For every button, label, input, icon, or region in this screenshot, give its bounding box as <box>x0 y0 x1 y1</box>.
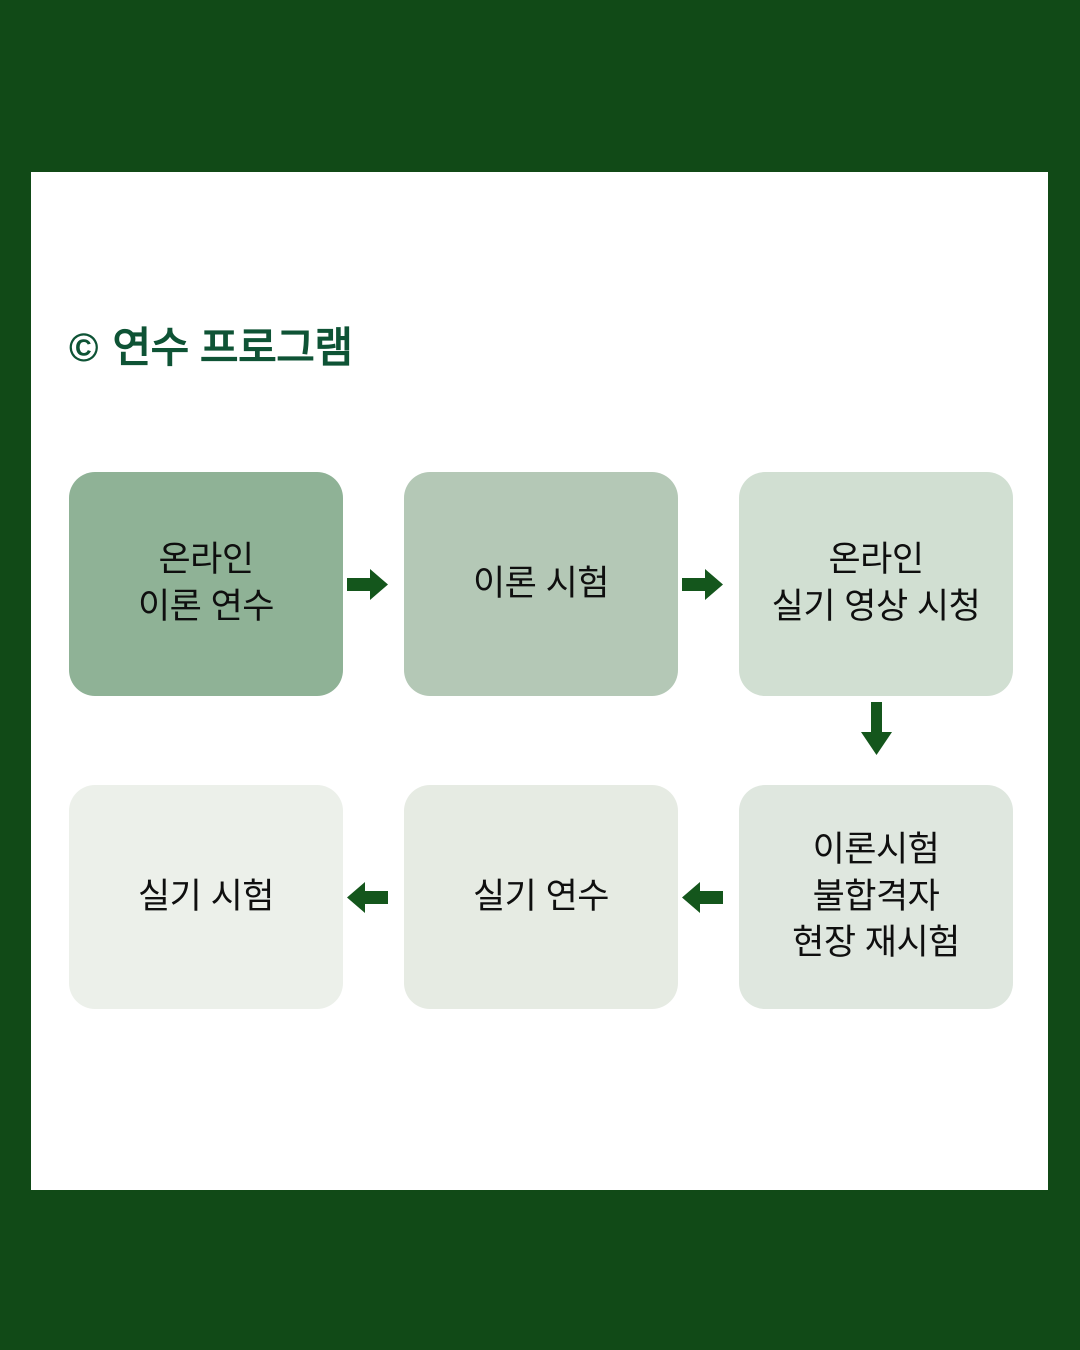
flow-node-online-practical-video[interactable]: 온라인 실기 영상 시청 <box>739 472 1013 696</box>
arrow-down-icon <box>860 702 893 756</box>
flow-node-theory-exam-retake[interactable]: 이론시험 불합격자 현장 재시험 <box>739 785 1013 1009</box>
content-card: © 연수 프로그램 온라인 이론 연수 이론 시험 온라인 실기 영상 시청 이… <box>31 172 1048 1190</box>
flow-node-theory-exam[interactable]: 이론 시험 <box>404 472 678 696</box>
arrow-right-icon <box>347 568 389 601</box>
arrow-right-icon <box>682 568 724 601</box>
arrow-left-icon <box>682 881 724 914</box>
flow-node-online-theory-training[interactable]: 온라인 이론 연수 <box>69 472 343 696</box>
arrow-left-icon <box>347 881 389 914</box>
flow-node-practical-training[interactable]: 실기 연수 <box>404 785 678 1009</box>
flow-node-practical-exam[interactable]: 실기 시험 <box>69 785 343 1009</box>
flowchart: 온라인 이론 연수 이론 시험 온라인 실기 영상 시청 이론시험 불합격자 현… <box>31 172 1048 1190</box>
